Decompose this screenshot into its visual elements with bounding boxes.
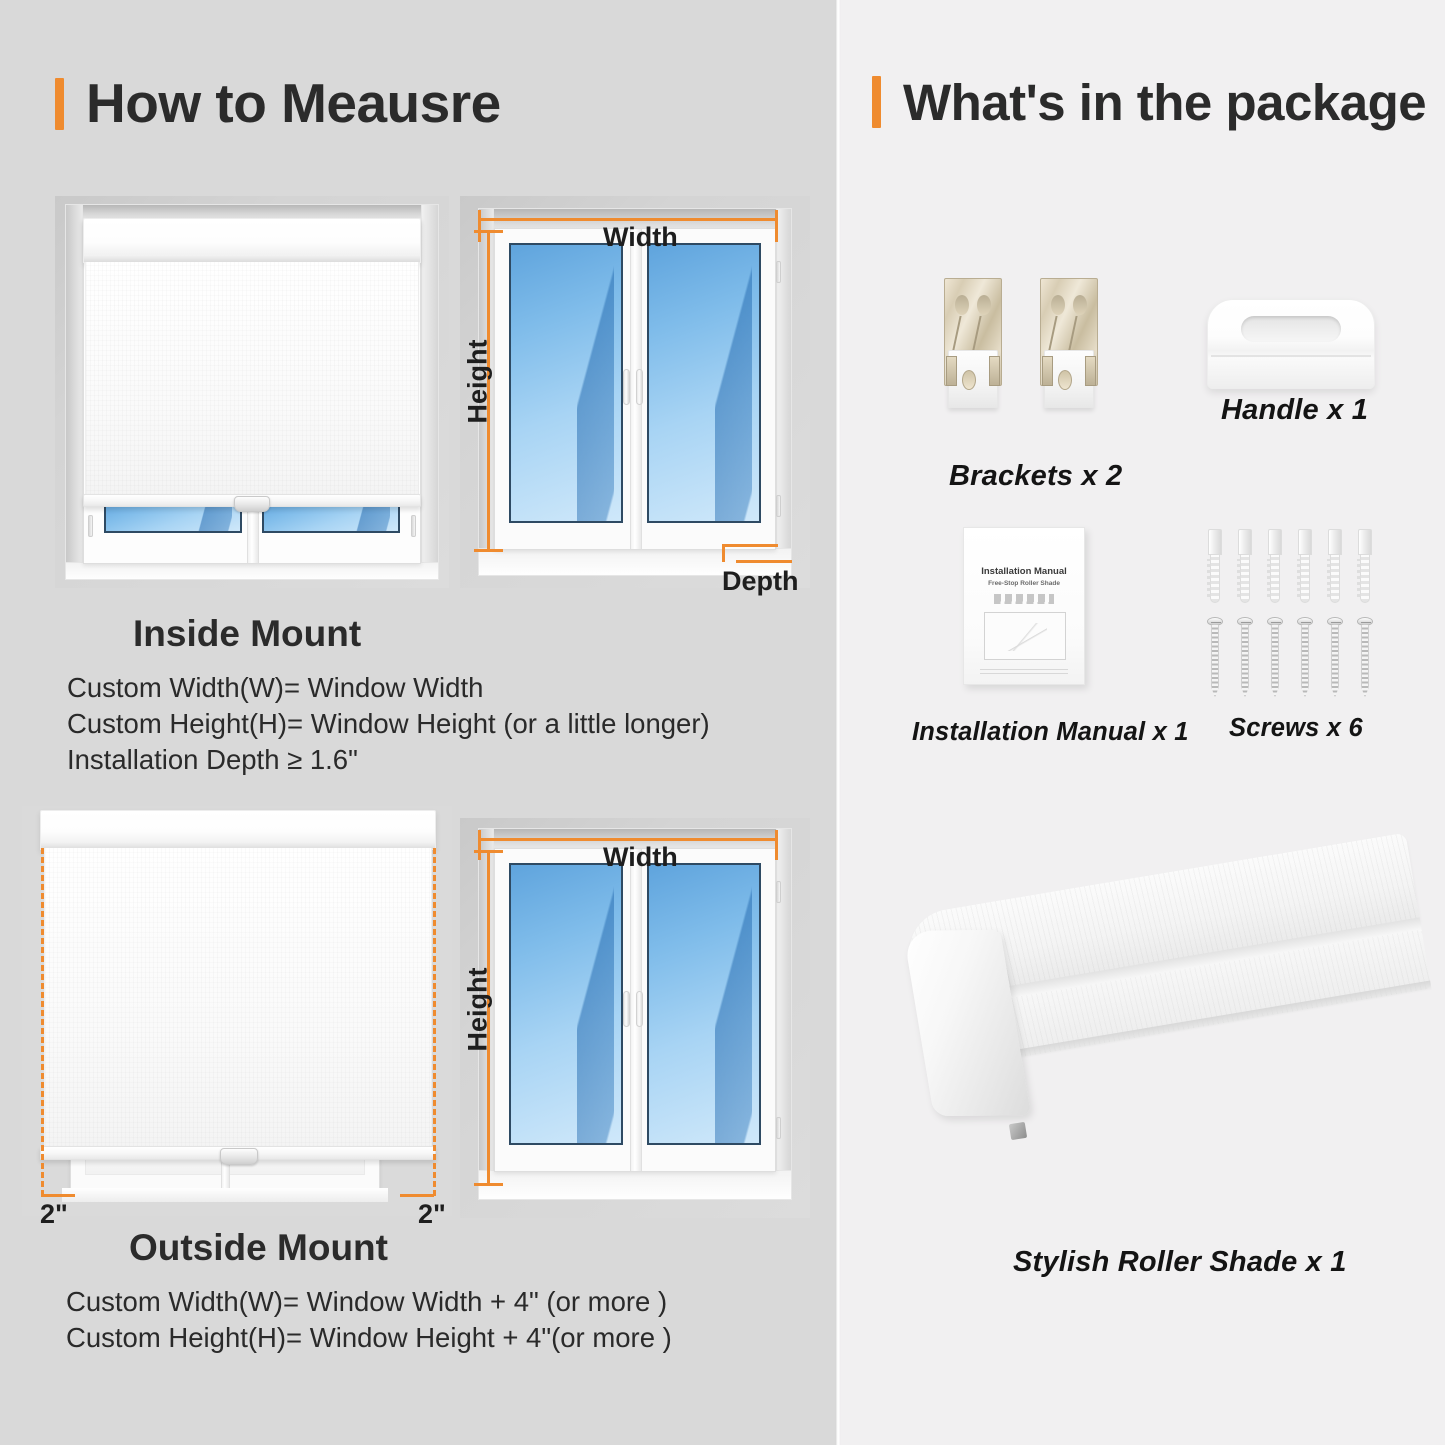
inside-mount-instructions: Custom Width(W)= Window Width Custom Hei… — [67, 670, 710, 777]
outside-mount-title: Outside Mount — [129, 1227, 388, 1269]
inside-mount-line-1: Custom Width(W)= Window Width — [67, 670, 710, 706]
bracket-icon — [1034, 278, 1104, 428]
wall-anchor-icon — [1237, 529, 1253, 603]
brackets-label: Brackets x 2 — [949, 460, 1122, 493]
hinge-bottom-right-2 — [776, 495, 781, 517]
roller-shade-pin — [1009, 1122, 1027, 1140]
roller-shade-icon — [905, 905, 1435, 1205]
screw-thread — [1331, 625, 1339, 697]
sash-handle-left-3 — [623, 991, 630, 1027]
handle-label: Handle x 1 — [1221, 394, 1368, 427]
width-label: Width — [603, 222, 678, 253]
depth-dim-lower — [736, 560, 792, 563]
accent-bar-icon — [55, 78, 64, 130]
height-label: Height — [463, 340, 494, 424]
wall-anchor-icon — [1267, 529, 1283, 603]
screw-head — [1237, 617, 1253, 626]
handle-slot — [1241, 316, 1341, 342]
hinge-bottom-right-3 — [776, 1117, 781, 1139]
overhang-guide-right — [433, 848, 436, 1196]
manual-cover-diagram — [984, 612, 1066, 660]
wall-anchor-icon — [1297, 529, 1313, 603]
screw-thread — [1361, 625, 1369, 697]
anchor-shaft — [1270, 554, 1280, 603]
anchor-collar — [1358, 529, 1372, 555]
shade-fabric — [85, 262, 419, 496]
screw-head — [1327, 617, 1343, 626]
width-dimension-line — [478, 218, 778, 221]
glass-pane-right-3 — [647, 863, 761, 1145]
package-title: What's in the package — [903, 77, 1426, 128]
hinge-left — [88, 515, 93, 537]
hinge-right — [411, 515, 416, 537]
manual-icon: Installation Manual Free-Stop Roller Sha… — [963, 527, 1085, 685]
screw-head — [1297, 617, 1313, 626]
reveal-bottom — [65, 562, 439, 580]
window-sash-3 — [494, 848, 776, 1172]
outside-mount-dimension-diagram: Width Height — [460, 818, 810, 1218]
width-dimension-line-3 — [478, 838, 778, 841]
depth-label: Depth — [722, 566, 799, 597]
anchor-shaft — [1330, 554, 1340, 603]
depth-dim-upper — [722, 544, 778, 547]
outside-mount-instructions: Custom Width(W)= Window Width + 4" (or m… — [66, 1284, 672, 1356]
depth-dim-tick — [722, 544, 725, 562]
screw-head — [1207, 617, 1223, 626]
glass-pane-left-2 — [509, 243, 623, 523]
height-label-3: Height — [463, 968, 494, 1052]
inside-mount-shade-illustration — [55, 196, 449, 588]
anchor-collar — [1298, 529, 1312, 555]
handle-body — [1207, 299, 1375, 389]
handle-icon — [1207, 299, 1375, 389]
wall-anchor-icon — [1207, 529, 1223, 603]
screw-thread — [1241, 625, 1249, 697]
bracket-icon — [938, 278, 1008, 428]
manual-cover-scribble — [994, 594, 1054, 604]
infographic-page: How to Meausre — [0, 0, 1445, 1445]
screw-head — [1357, 617, 1373, 626]
anchor-collar — [1208, 529, 1222, 555]
outside-shade-fabric — [44, 848, 432, 1148]
reveal-bottom-3 — [478, 1170, 792, 1200]
screw-icon — [1267, 617, 1283, 697]
shade-headrail — [83, 218, 421, 263]
outside-shade-headrail — [40, 810, 436, 850]
width-dim-tick-right — [775, 210, 778, 242]
glass-pane-right-2 — [647, 243, 761, 523]
inside-mount-dimension-diagram: Width Height Depth — [460, 196, 810, 588]
wall-anchor-icon — [1357, 529, 1373, 603]
how-to-measure-heading: How to Meausre — [55, 76, 501, 131]
screw-icon — [1357, 617, 1373, 697]
overhang-dim-right — [400, 1194, 434, 1197]
screw-icon — [1327, 617, 1343, 697]
screw-head — [1267, 617, 1283, 626]
handle-seam — [1211, 355, 1371, 357]
how-to-measure-title: How to Meausre — [86, 76, 501, 131]
package-heading: What's in the package — [872, 76, 1426, 128]
screw-icon — [1237, 617, 1253, 697]
manual-cover-footer-lines — [980, 666, 1068, 674]
bracket-tab-left — [1042, 356, 1053, 386]
outside-window-sill — [62, 1188, 388, 1202]
shade-pull-tab — [234, 496, 270, 512]
height-dim-tick-bottom-3 — [474, 1183, 503, 1186]
screw-thread — [1301, 625, 1309, 697]
sash-handle-right — [636, 369, 643, 405]
anchor-shaft — [1240, 554, 1250, 603]
overhang-dim-left — [41, 1194, 75, 1197]
screw-icon — [1297, 617, 1313, 697]
inside-mount-title: Inside Mount — [133, 613, 361, 655]
bracket-tab-right — [1085, 356, 1096, 386]
accent-bar-icon-2 — [872, 76, 881, 128]
screw-thread — [1271, 625, 1279, 697]
reveal-right — [421, 204, 439, 580]
inside-mount-line-2: Custom Height(H)= Window Height (or a li… — [67, 706, 710, 742]
screw-thread — [1211, 625, 1219, 697]
glass-pane-left-3 — [509, 863, 623, 1145]
anchor-shaft — [1210, 554, 1220, 603]
window-sash-2 — [494, 228, 776, 550]
reveal-left — [65, 204, 83, 580]
height-dim-tick-top — [474, 230, 503, 233]
hinge-top-right-3 — [776, 881, 781, 903]
manual-label: Installation Manual x 1 — [912, 718, 1189, 747]
width-label-3: Width — [603, 842, 678, 873]
outside-mount-line-2: Custom Height(H)= Window Height + 4"(or … — [66, 1320, 672, 1356]
overhang-label-left: 2" — [40, 1199, 68, 1230]
bracket-tab-right — [989, 356, 1000, 386]
width-dim-tick-left-3 — [478, 830, 481, 860]
overhang-guide-left — [41, 848, 44, 1196]
manual-cover-title: Installation Manual — [964, 566, 1084, 577]
hinge-top-right-2 — [776, 261, 781, 283]
manual-cover-subtitle: Free-Stop Roller Shade — [964, 580, 1084, 587]
bracket-screw-hole — [1058, 370, 1072, 390]
overhang-label-right: 2" — [418, 1199, 446, 1230]
height-dim-tick-top-3 — [474, 850, 503, 853]
width-dim-tick-right-3 — [775, 830, 778, 860]
outside-mount-line-1: Custom Width(W)= Window Width + 4" (or m… — [66, 1284, 672, 1320]
anchor-collar — [1268, 529, 1282, 555]
sash-handle-left — [623, 369, 630, 405]
wall-anchor-icon — [1327, 529, 1343, 603]
roller-shade-label: Stylish Roller Shade x 1 — [1013, 1246, 1347, 1279]
outside-shade-pull-tab — [220, 1148, 258, 1165]
screw-icon — [1207, 617, 1223, 697]
height-dim-tick-bottom — [474, 549, 503, 552]
bracket-screw-hole — [962, 370, 976, 390]
width-dim-tick-left — [478, 210, 481, 242]
anchor-shaft — [1360, 554, 1370, 603]
anchor-collar — [1238, 529, 1252, 555]
sash-handle-right-3 — [636, 991, 643, 1027]
outside-mount-shade-illustration — [22, 806, 452, 1216]
inside-mount-line-3: Installation Depth ≥ 1.6" — [67, 742, 710, 778]
anchor-collar — [1328, 529, 1342, 555]
anchor-shaft — [1300, 554, 1310, 603]
bracket-tab-left — [946, 356, 957, 386]
screws-label: Screws x 6 — [1229, 714, 1363, 743]
